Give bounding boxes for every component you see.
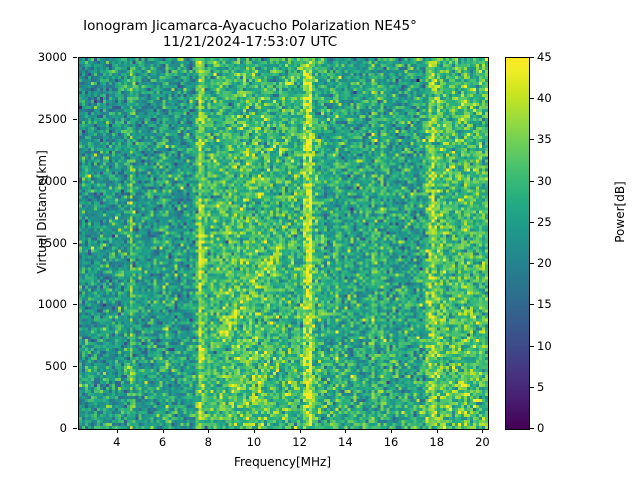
y-tick (73, 57, 77, 58)
y-tick-label: 0 (21, 421, 67, 435)
colorbar-tick-label: 0 (537, 421, 544, 435)
colorbar-tick-label: 20 (537, 256, 552, 270)
colorbar-tick (530, 387, 534, 388)
y-tick (73, 119, 77, 120)
colorbar-tick-label: 45 (537, 50, 552, 64)
x-tick (391, 429, 392, 433)
x-tick-label: 8 (188, 435, 228, 449)
colorbar-tick (530, 263, 534, 264)
x-tick (482, 429, 483, 433)
y-tick (73, 304, 77, 305)
x-tick (254, 429, 255, 433)
x-tick (437, 429, 438, 433)
x-tick (345, 429, 346, 433)
figure-title: Ionogram Jicamarca-Ayacucho Polarization… (0, 18, 500, 50)
colorbar-tick (530, 428, 534, 429)
x-tick-label: 14 (325, 435, 365, 449)
x-tick-label: 6 (143, 435, 183, 449)
colorbar-gradient (506, 58, 529, 429)
colorbar-tick (530, 181, 534, 182)
colorbar-tick (530, 139, 534, 140)
y-tick-label: 1500 (21, 236, 67, 250)
x-axis-label: Frequency[MHz] (78, 455, 487, 469)
x-tick (208, 429, 209, 433)
colorbar-label: Power[dB] (613, 92, 627, 332)
colorbar-tick (530, 346, 534, 347)
x-tick-label: 4 (97, 435, 137, 449)
colorbar (505, 57, 530, 430)
colorbar-tick-label: 25 (537, 215, 552, 229)
heatmap-plot-area[interactable] (78, 57, 489, 430)
y-tick (73, 428, 77, 429)
y-tick (73, 366, 77, 367)
colorbar-tick-label: 10 (537, 339, 552, 353)
ionogram-figure: Ionogram Jicamarca-Ayacucho Polarization… (0, 0, 640, 480)
x-tick-label: 10 (234, 435, 274, 449)
x-tick-label: 16 (371, 435, 411, 449)
colorbar-tick-label: 5 (537, 380, 544, 394)
colorbar-tick-label: 35 (537, 132, 552, 146)
y-tick (73, 181, 77, 182)
colorbar-tick-label: 15 (537, 297, 552, 311)
ionogram-heatmap-canvas (79, 58, 488, 429)
y-axis-label: Virtual Distance[km] (35, 92, 49, 332)
x-tick-label: 20 (462, 435, 502, 449)
colorbar-tick (530, 304, 534, 305)
colorbar-tick (530, 57, 534, 58)
y-tick-label: 500 (21, 359, 67, 373)
x-tick (163, 429, 164, 433)
figure-title-line-2: 11/21/2024-17:53:07 UTC (0, 34, 500, 50)
y-tick-label: 2500 (21, 112, 67, 126)
colorbar-tick-label: 30 (537, 174, 552, 188)
y-tick-label: 1000 (21, 297, 67, 311)
colorbar-tick-label: 40 (537, 91, 552, 105)
x-tick-label: 12 (280, 435, 320, 449)
colorbar-tick (530, 222, 534, 223)
colorbar-tick (530, 98, 534, 99)
y-tick-label: 2000 (21, 174, 67, 188)
y-tick (73, 243, 77, 244)
x-tick (117, 429, 118, 433)
x-tick-label: 18 (417, 435, 457, 449)
figure-title-line-1: Ionogram Jicamarca-Ayacucho Polarization… (0, 18, 500, 34)
x-tick (300, 429, 301, 433)
y-tick-label: 3000 (21, 50, 67, 64)
